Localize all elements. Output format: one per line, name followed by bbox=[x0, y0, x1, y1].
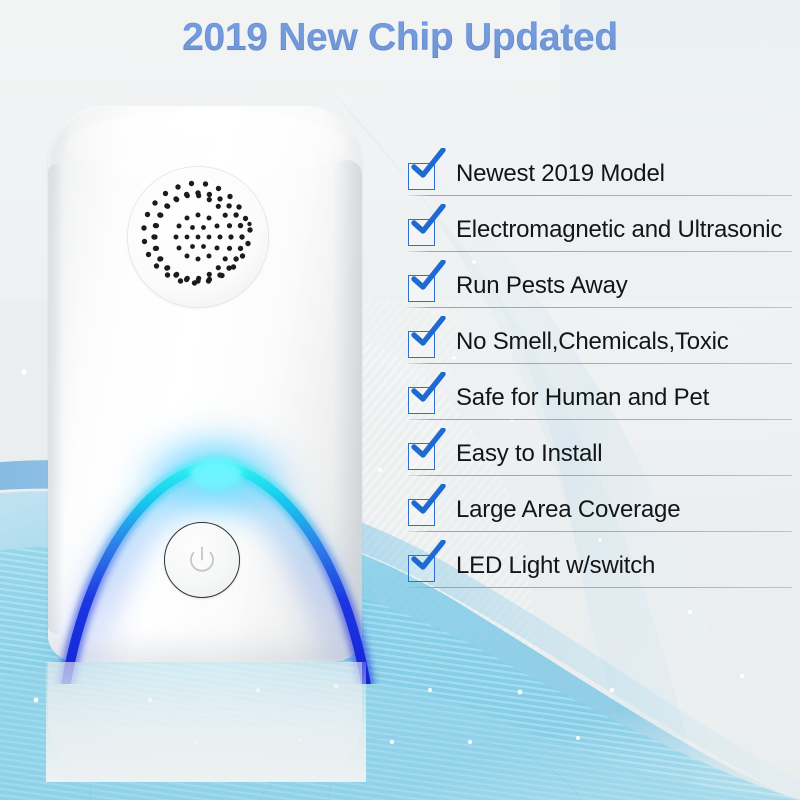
checkbox-icon[interactable] bbox=[408, 387, 435, 414]
feature-label: Large Area Coverage bbox=[456, 496, 680, 524]
feature-list: Newest 2019 Model Electromagnetic and Ul… bbox=[406, 154, 794, 602]
feature-underline bbox=[408, 587, 792, 588]
feature-item[interactable]: Run Pests Away bbox=[406, 266, 794, 322]
feature-underline bbox=[408, 531, 792, 532]
checkbox-icon[interactable] bbox=[408, 499, 435, 526]
feature-underline bbox=[408, 363, 792, 364]
checkbox-icon[interactable] bbox=[408, 555, 435, 582]
product-device bbox=[46, 104, 366, 684]
feature-underline bbox=[408, 251, 792, 252]
power-button[interactable] bbox=[164, 522, 240, 598]
feature-label: Safe for Human and Pet bbox=[456, 384, 709, 412]
feature-label: Newest 2019 Model bbox=[456, 160, 665, 188]
feature-item[interactable]: LED Light w/switch bbox=[406, 546, 794, 602]
feature-item[interactable]: Safe for Human and Pet bbox=[406, 378, 794, 434]
checkbox-icon[interactable] bbox=[408, 443, 435, 470]
feature-item[interactable]: Electromagnetic and Ultrasonic bbox=[406, 210, 794, 266]
feature-underline bbox=[408, 419, 792, 420]
feature-underline bbox=[408, 307, 792, 308]
feature-item[interactable]: Large Area Coverage bbox=[406, 490, 794, 546]
product-feature-banner: 2019 New Chip Updated bbox=[0, 0, 800, 800]
feature-item[interactable]: Newest 2019 Model bbox=[406, 154, 794, 210]
speaker-grille bbox=[128, 167, 268, 307]
checkbox-icon[interactable] bbox=[408, 163, 435, 190]
feature-item[interactable]: Easy to Install bbox=[406, 434, 794, 490]
feature-label: LED Light w/switch bbox=[456, 552, 655, 580]
speaker-grille-dots bbox=[128, 167, 268, 307]
page-title: 2019 New Chip Updated bbox=[0, 16, 800, 60]
feature-underline bbox=[408, 475, 792, 476]
feature-label: Easy to Install bbox=[456, 440, 602, 468]
feature-label: Electromagnetic and Ultrasonic bbox=[456, 216, 782, 244]
feature-label: Run Pests Away bbox=[456, 272, 628, 300]
checkbox-icon[interactable] bbox=[408, 275, 435, 302]
feature-label: No Smell,Chemicals,Toxic bbox=[456, 328, 729, 356]
power-icon bbox=[185, 543, 219, 577]
feature-underline bbox=[408, 195, 792, 196]
checkbox-icon[interactable] bbox=[408, 331, 435, 358]
feature-item[interactable]: No Smell,Chemicals,Toxic bbox=[406, 322, 794, 378]
checkbox-icon[interactable] bbox=[408, 219, 435, 246]
